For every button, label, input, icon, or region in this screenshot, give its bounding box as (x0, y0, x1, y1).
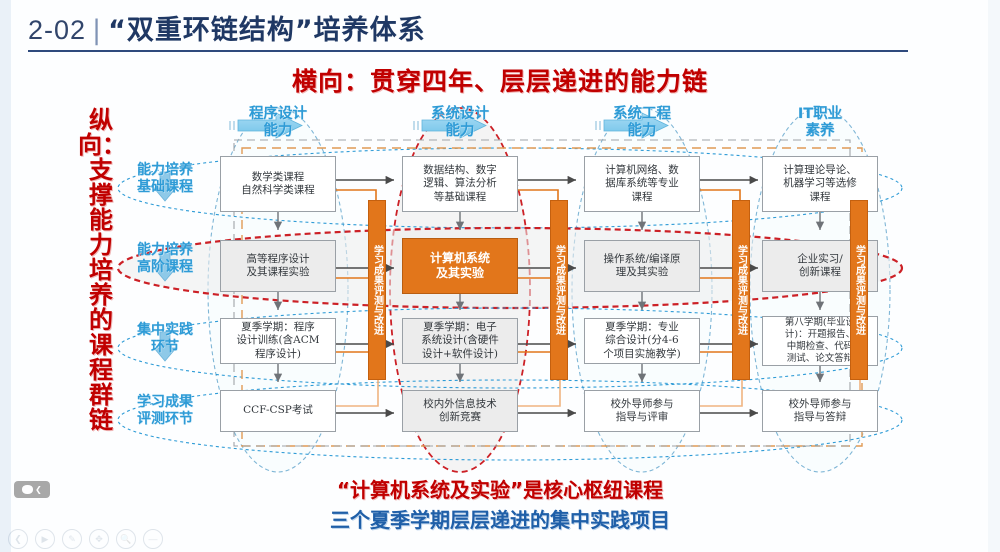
column-header-0-line1: 程序设计 (219, 106, 337, 123)
row-label-2-line2: 环节 (120, 339, 210, 356)
row-label-2: 集中实践 环节 (120, 322, 210, 356)
play-icon[interactable]: ▶ (35, 529, 55, 549)
course-box-r2c1[interactable]: 高等程序设计 及其课程实验 (220, 240, 336, 292)
row-label-3-line1: 学习成果 (120, 394, 210, 411)
column-header-2: 系统工程 能力 (583, 106, 701, 140)
header-rule (28, 50, 908, 52)
slide-canvas: 2-02|“双重环链结构”培养体系 横向：贯穿四年、层层递进的能力链 纵向：支撑… (0, 0, 1000, 552)
slide-header: 2-02|“双重环链结构”培养体系 (28, 8, 928, 52)
evaluation-bar-1[interactable]: 学习成果评测与改进 (368, 200, 386, 380)
column-header-3: IT职业 素养 (761, 106, 879, 140)
evaluation-bar-4[interactable]: 学习成果评测与改进 (850, 200, 868, 380)
title-text: “双重环链结构”培养体系 (108, 15, 426, 46)
column-header-1-line2: 能力 (401, 123, 519, 140)
course-box-r3c2[interactable]: 夏季学期：电子 系统设计(含硬件 设计+软件设计) (402, 318, 518, 364)
column-header-2-line1: 系统工程 (583, 106, 701, 123)
column-header-1-line1: 系统设计 (401, 106, 519, 123)
vertical-axis-label: 纵向：支撑能力培养的课程群链 (78, 108, 124, 433)
row-label-3: 学习成果 评测环节 (120, 394, 210, 428)
column-header-0: 程序设计 能力 (219, 106, 337, 140)
row-label-0-line1: 能力培养 (120, 162, 210, 179)
comment-overlay-chip[interactable]: ❮ (14, 481, 50, 498)
course-box-r4c3[interactable]: 校外导师参与 指导与评审 (584, 390, 700, 432)
zoom-in-icon[interactable]: 🔍 (116, 529, 136, 549)
course-box-r4c4[interactable]: 校外导师参与 指导与答辩 (762, 390, 878, 432)
course-box-r2c3[interactable]: 操作系统/编译原 理及其实验 (584, 240, 700, 292)
course-box-r1c1[interactable]: 数学类课程 自然科学类课程 (220, 156, 336, 212)
row-label-0: 能力培养 基础课程 (120, 162, 210, 196)
title-divider: | (86, 15, 108, 46)
course-box-r3c1[interactable]: 夏季学期：程序 设计训练(含ACM 程序设计) (220, 318, 336, 364)
row-label-1: 能力培养 高阶课程 (120, 242, 210, 276)
chevron-left-icon: ❮ (35, 486, 42, 494)
footer-highlight-red: “计算机系统及实验”是核心枢纽课程 (0, 474, 1000, 503)
column-header-3-line2: 素养 (761, 123, 879, 140)
pen-icon[interactable]: ✎ (62, 529, 82, 549)
page-number: 2-02 (28, 15, 86, 45)
row-label-2-line1: 集中实践 (120, 322, 210, 339)
speech-bubble-icon (22, 485, 33, 494)
row-label-3-line2: 评测环节 (120, 411, 210, 428)
row-label-0-line2: 基础课程 (120, 179, 210, 196)
player-toolbar[interactable]: ❮ ▶ ✎ ✥ 🔍 — (8, 529, 163, 549)
row-label-1-line2: 高阶课程 (120, 259, 210, 276)
row-label-1-line1: 能力培养 (120, 242, 210, 259)
previous-icon[interactable]: ❮ (8, 529, 28, 549)
zoom-out-icon[interactable]: — (143, 529, 163, 549)
evaluation-bar-2[interactable]: 学习成果评测与改进 (550, 200, 568, 380)
diagram-stage: 程序设计 能力 系统设计 能力 系统工程 能力 IT职业 素养 能力培养 基础课… (130, 100, 890, 470)
column-header-1: 系统设计 能力 (401, 106, 519, 140)
course-box-r4c1[interactable]: CCF-CSP考试 (220, 390, 336, 432)
course-box-r3c3[interactable]: 夏季学期：专业 综合设计(分4-6 个项目实施教学) (584, 318, 700, 364)
pointer-icon[interactable]: ✥ (89, 529, 109, 549)
page-title: 2-02|“双重环链结构”培养体系 (28, 8, 928, 47)
column-header-0-line2: 能力 (219, 123, 337, 140)
course-box-r4c2[interactable]: 校内外信息技术 创新竞赛 (402, 390, 518, 432)
horizontal-axis-banner: 横向：贯穿四年、层层递进的能力链 (0, 62, 1000, 98)
course-box-r1c3[interactable]: 计算机网络、数 据库系统等专业 课程 (584, 156, 700, 212)
course-box-r1c2[interactable]: 数据结构、数字 逻辑、算法分析 等基础课程 (402, 156, 518, 212)
column-header-2-line2: 能力 (583, 123, 701, 140)
column-header-3-line1: IT职业 (761, 106, 879, 123)
evaluation-bar-3[interactable]: 学习成果评测与改进 (732, 200, 750, 380)
course-box-hub-r2c2[interactable]: 计算机系统 及其实验 (402, 238, 518, 294)
